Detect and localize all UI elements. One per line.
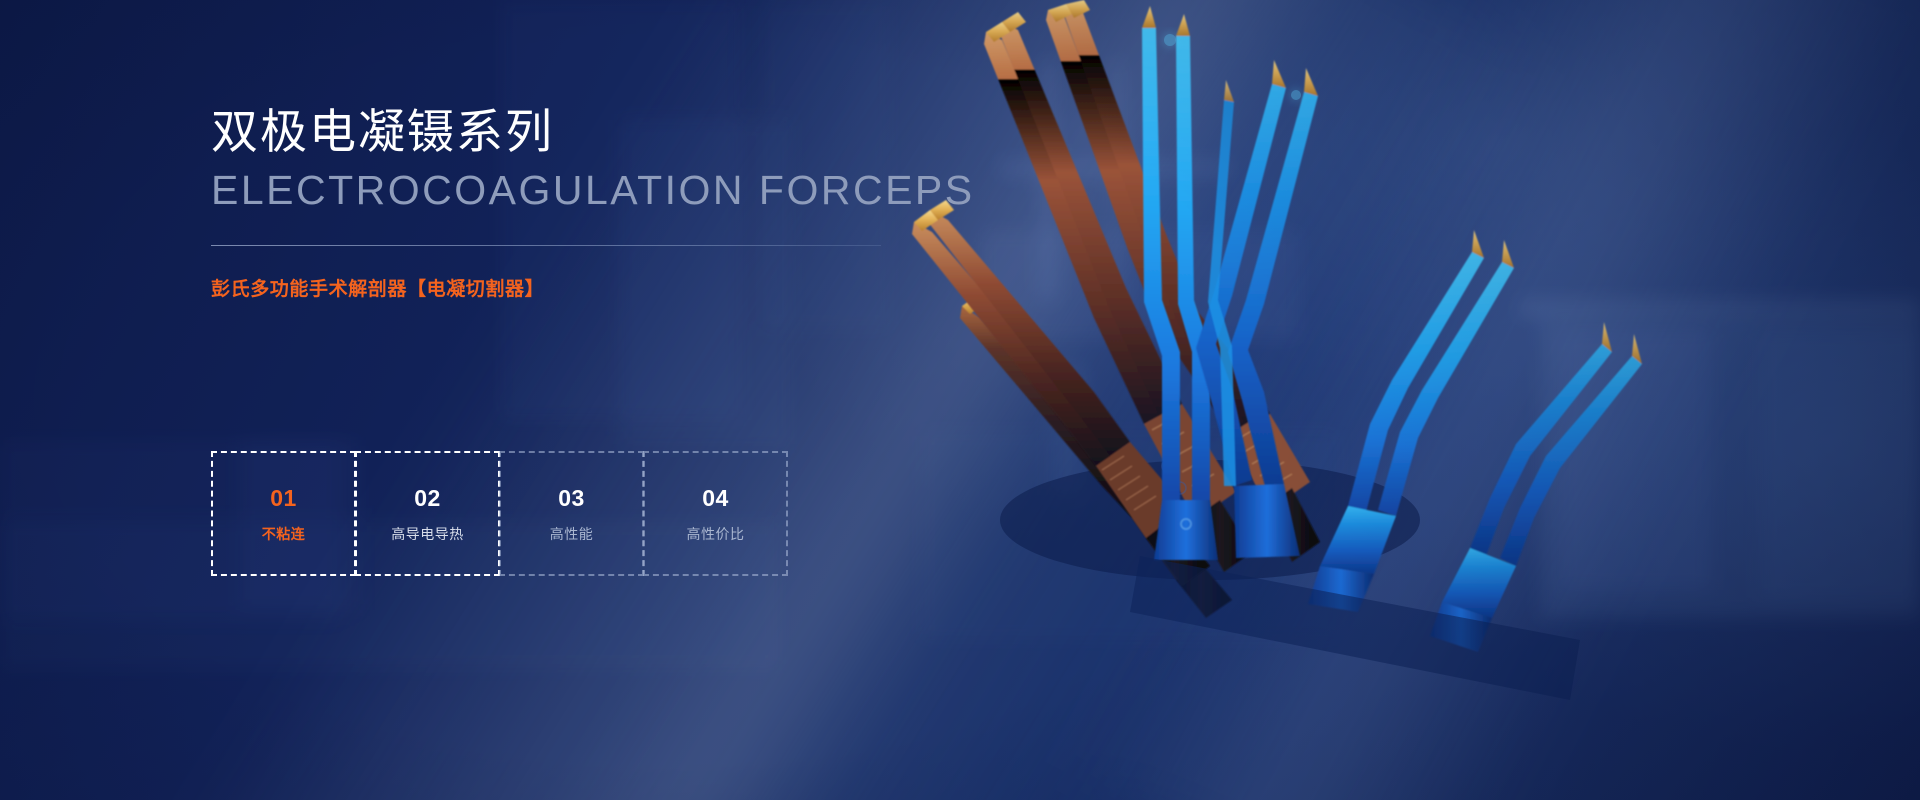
feature-number: 01 (270, 487, 297, 510)
feature-number: 02 (414, 487, 441, 510)
feature-number: 03 (558, 487, 585, 510)
feature-label: 高性价比 (687, 527, 745, 541)
feature-label: 高性能 (550, 527, 594, 541)
feature-card-04[interactable]: 04 高性价比 (643, 451, 788, 576)
feature-card-01[interactable]: 01 不粘连 (211, 451, 356, 576)
banner-text-block: 双极电凝镊系列 ELECTROCOAGULATION FORCEPS 彭氏多功能… (211, 104, 911, 301)
feature-label: 高导电导热 (391, 527, 464, 541)
page-title-cn: 双极电凝镊系列 (211, 104, 911, 159)
feature-card-02[interactable]: 02 高导电导热 (355, 451, 500, 576)
feature-list: 01 不粘连 02 高导电导热 03 高性能 04 高性价比 (211, 451, 787, 576)
page-title-en: ELECTROCOAGULATION FORCEPS (211, 167, 911, 214)
title-divider (211, 245, 881, 246)
product-banner: 双极电凝镊系列 ELECTROCOAGULATION FORCEPS 彭氏多功能… (0, 0, 1920, 800)
page-subtitle: 彭氏多功能手术解剖器【电凝切割器】 (211, 274, 911, 301)
feature-card-03[interactable]: 03 高性能 (499, 451, 644, 576)
feature-number: 04 (702, 487, 729, 510)
feature-label: 不粘连 (262, 527, 306, 541)
